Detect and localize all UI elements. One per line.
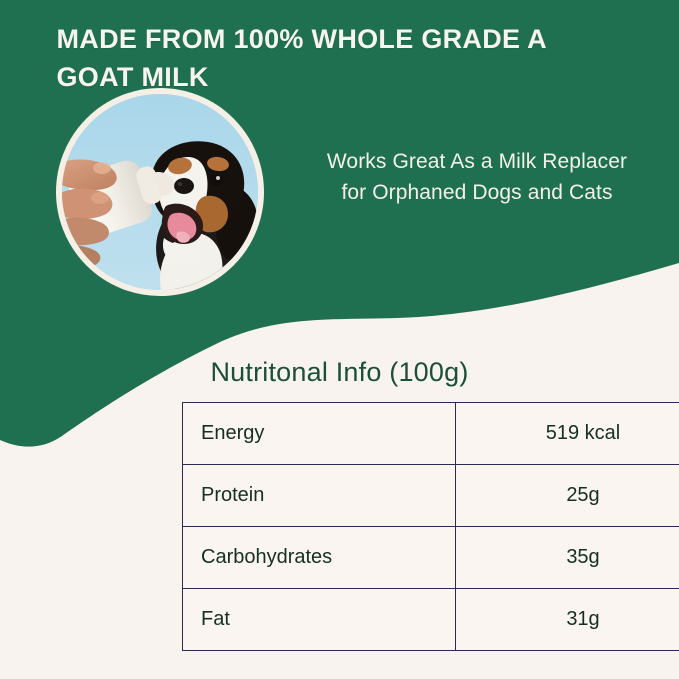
puppy-illustration — [56, 88, 264, 296]
nutrient-label: Energy — [183, 403, 456, 465]
table-row: Carbohydrates 35g — [183, 527, 679, 589]
nutrient-label: Protein — [183, 465, 456, 527]
photo-ring — [56, 88, 264, 296]
table-row: Energy 519 kcal — [183, 403, 679, 465]
table-row: Protein 25g — [183, 465, 679, 527]
nutrient-value: 25g — [456, 465, 679, 527]
nutrition-heading: Nutritonal Info (100g) — [0, 357, 679, 388]
nutrient-value: 31g — [456, 589, 679, 651]
nutrient-value: 35g — [456, 527, 679, 589]
nutrient-label: Fat — [183, 589, 456, 651]
nutrient-value: 519 kcal — [456, 403, 679, 465]
tagline: Works Great As a Milk Replacer for Orpha… — [292, 146, 662, 208]
tagline-line-2: for Orphaned Dogs and Cats — [292, 177, 662, 208]
nutrient-label: Carbohydrates — [183, 527, 456, 589]
nutrition-table: Energy 519 kcal Protein 25g Carbohydrate… — [182, 402, 679, 651]
puppy-bottle-feeding-photo — [56, 88, 286, 298]
product-infographic: MADE FROM 100% WHOLE GRADE A GOAT MILK — [0, 0, 679, 679]
tagline-line-1: Works Great As a Milk Replacer — [292, 146, 662, 177]
table-row: Fat 31g — [183, 589, 679, 651]
